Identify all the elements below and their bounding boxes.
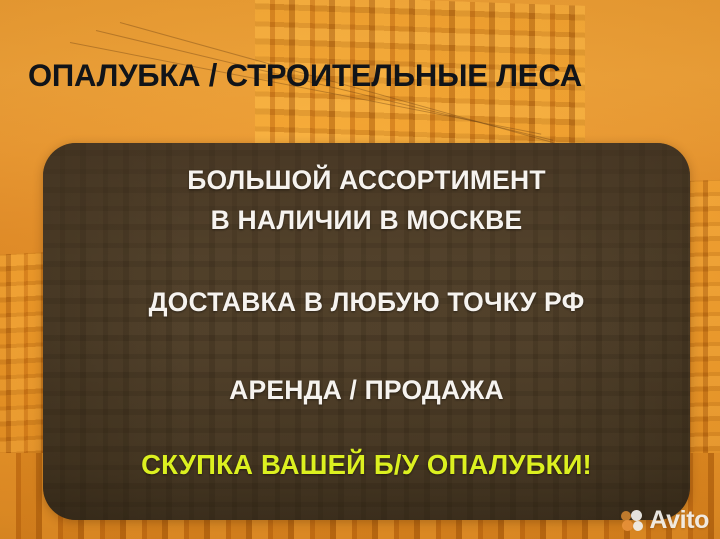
offer-line-buyback-highlight: СКУПКА ВАШЕЙ Б/У ОПАЛУБКИ! [43,451,690,479]
avito-dot [633,521,643,531]
page-title: ОПАЛУБКА / СТРОИТЕЛЬНЫЕ ЛЕСА [28,55,684,95]
offer-line-rent-sale: АРЕНДА / ПРОДАЖА [43,377,690,404]
offer-line-assortment: БОЛЬШОЙ АССОРТИМЕНТ [43,167,690,194]
offer-line-delivery: ДОСТАВКА В ЛЮБУЮ ТОЧКУ РФ [43,289,690,316]
offer-panel: БОЛЬШОЙ АССОРТИМЕНТ В НАЛИЧИИ В МОСКВЕ Д… [43,143,690,520]
avito-watermark: Avito [621,508,709,533]
offer-line-in-stock-moscow: В НАЛИЧИИ В МОСКВЕ [43,207,690,234]
offer-list: БОЛЬШОЙ АССОРТИМЕНТ В НАЛИЧИИ В МОСКВЕ Д… [43,143,690,520]
avito-wordmark: Avito [649,508,709,533]
avito-dot [631,510,642,521]
avito-dots-icon [621,510,645,531]
avito-dot [622,520,633,531]
advertisement-banner: ОПАЛУБКА / СТРОИТЕЛЬНЫЕ ЛЕСА БОЛЬШОЙ АСС… [0,0,720,539]
